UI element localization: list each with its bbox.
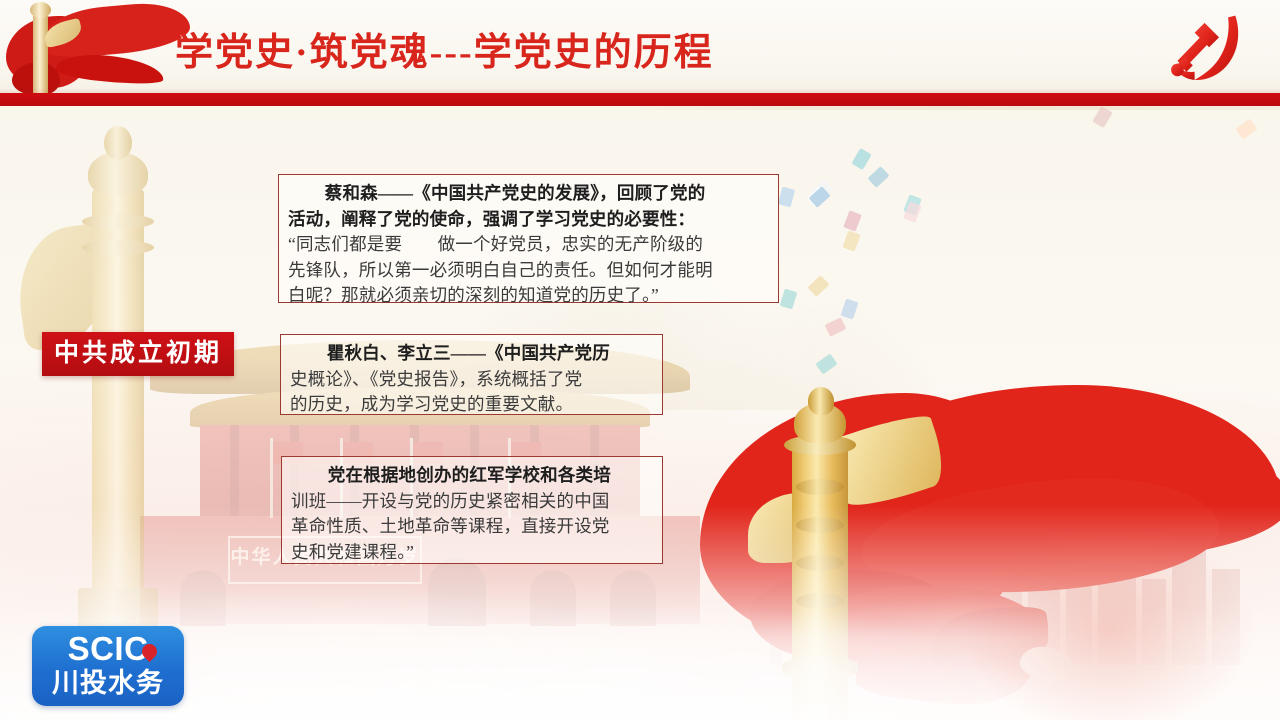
slide-header: 学党史·筑党魂---学党史的历程	[0, 0, 1280, 106]
stage-label-text: 中共成立初期	[42, 332, 234, 376]
content-line: 白呢？那就必须亲切的深刻的知道党的历史了。”	[288, 283, 769, 309]
content-line: 瞿秋白、李立三——《中国共产党历	[290, 341, 653, 367]
slide-root: 中华人民共和国万岁	[0, 0, 1280, 720]
logo-mark-text: SCIC	[32, 631, 184, 667]
page-title: 学党史·筑党魂---学党史的历程	[175, 26, 1015, 80]
content-line: 革命性质、土地革命等课程，直接开设党	[291, 514, 653, 540]
cpc-emblem-icon	[1164, 12, 1256, 88]
content-line: 党在根据地创办的红军学校和各类培	[291, 463, 653, 489]
company-logo: SCIC 川投水务	[32, 626, 184, 706]
warm-glow-right	[900, 480, 1280, 720]
huabiao-shaft	[33, 8, 48, 96]
huabiao-carving	[796, 479, 844, 495]
content-line: 训班——开设与党的历史紧密相关的中国	[291, 489, 653, 515]
content-box-red-army-schools: 党在根据地创办的红军学校和各类培训班——开设与党的历史紧密相关的中国革命性质、土…	[281, 456, 663, 564]
content-box-qu-qiubai-li-lisan: 瞿秋白、李立三——《中国共产党历史概论》、《党史报告》，系统概括了党的历史，成为…	[280, 334, 663, 415]
content-box-inner: 蔡和森——《中国共产党史的发展》，回顾了党的活动，阐释了党的使命，强调了学习党史…	[279, 175, 778, 313]
huabiao-head	[30, 2, 51, 18]
content-line: 史概论》、《党史报告》，系统概括了党	[290, 367, 653, 393]
huabiao-top-beast	[808, 387, 834, 415]
logo-name-text: 川投水务	[32, 666, 184, 700]
content-line: 蔡和森——《中国共产党史的发展》，回顾了党的	[288, 181, 769, 207]
content-line: 先锋队，所以第一必须明白自己的责任。但如何才能明	[288, 258, 769, 284]
content-box-inner: 瞿秋白、李立三——《中国共产党历史概论》、《党史报告》，系统概括了党的历史，成为…	[281, 335, 662, 422]
header-red-bar	[0, 93, 1280, 106]
tiananmen-pillar	[230, 425, 239, 517]
content-box-inner: 党在根据地创办的红军学校和各类培训班——开设与党的历史紧密相关的中国革命性质、土…	[282, 457, 662, 569]
huabiao-ring	[82, 240, 154, 255]
content-line: 的历史，成为学习党史的重要文献。	[290, 392, 653, 418]
content-line: “同志们都是要 做一个好党员，忠实的无产阶级的	[288, 232, 769, 258]
content-line: 史和党建课程。”	[291, 540, 653, 566]
huabiao-ring	[82, 214, 154, 229]
stage-label-badge: 中共成立初期	[42, 332, 234, 376]
content-box-cai-hesen: 蔡和森——《中国共产党史的发展》，回顾了党的活动，阐释了党的使命，强调了学习党史…	[278, 174, 779, 303]
content-line: 活动，阐释了党的使命，强调了学习党史的必要性：	[288, 207, 769, 233]
huabiao-top-beast	[104, 126, 132, 160]
